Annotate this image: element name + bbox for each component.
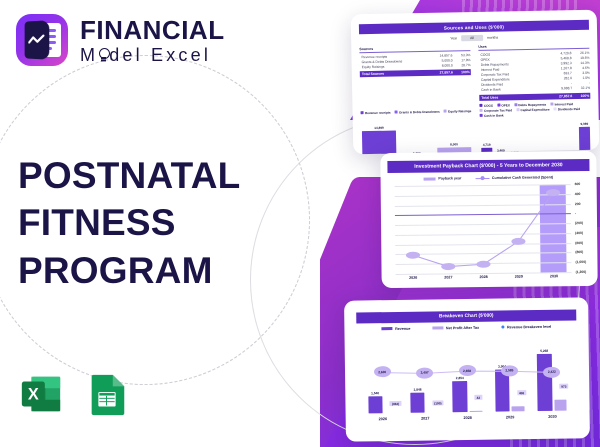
breakeven-level-swatch	[501, 325, 504, 328]
bar-value-label: 9,089	[580, 122, 588, 126]
payback-chart-title: Investment Payback Chart ($'000) - 5 Yea…	[387, 159, 589, 173]
page-title: POSTNATAL FITNESS PROGRAM	[18, 152, 240, 294]
legend-swatch	[395, 111, 398, 114]
row-pct: 53.3%	[452, 53, 470, 57]
cumulative-cash-swatch	[475, 177, 489, 178]
npat-label: 42	[475, 395, 483, 401]
bar-value-label: 4,719	[483, 143, 491, 147]
x-tick-label: 2030	[536, 274, 571, 278]
payback-legend: Payback year Cumulative Cash Generated (…	[381, 175, 597, 181]
payback-year-swatch	[424, 177, 436, 180]
file-format-icons: X	[18, 371, 130, 417]
logo-wave-icon	[28, 34, 45, 46]
x-tick-label: 2028	[446, 415, 488, 420]
y-tick-label: (200)	[575, 221, 583, 225]
row-pct: 1.0%	[572, 76, 590, 80]
y-tick-label: 600	[575, 182, 581, 186]
brand-subtitle: M del Excel	[80, 46, 225, 64]
row-value: 8,000.0	[427, 63, 453, 67]
google-sheets-icon	[84, 371, 130, 417]
sources-chart-legend: Revenue receiptsGrants & Debts Drawdowns…	[360, 104, 471, 120]
sources-total-row: Total Sources 27,857.6 100%	[360, 69, 471, 78]
sources-bar-chart: 14,8995,0008,000	[362, 120, 472, 154]
legend-item: Grants & Debts Drawdowns	[394, 105, 439, 120]
legend-item-cumulative-cash: Cumulative Cash Generated (Spent)	[475, 175, 553, 180]
breakeven-chart-title: Breakeven Chart ($'000)	[356, 309, 576, 323]
sources-uses-title: Sources and Uses ($'000)	[359, 20, 589, 35]
bar-item: 14,899	[362, 121, 397, 154]
legend-swatch	[361, 112, 364, 115]
x-tick-label: 2029	[489, 415, 531, 420]
breakeven-x-axis: 20262027202820292030	[362, 414, 574, 421]
bar-item: 2,992	[509, 119, 521, 154]
brand-title: FINANCIAL	[80, 17, 225, 43]
payback-line-series	[395, 184, 572, 274]
sources-table: Sources Revenue receipts14,857.653.3%Gra…	[359, 45, 471, 103]
payback-y-axis: 600400200-(200)(400)(600)(800)(1,000)(1,…	[571, 184, 598, 272]
row-pct: -	[572, 81, 590, 85]
breakeven-legend: Revenue Net Profit After Tax Revenue Bre…	[344, 324, 588, 331]
year-selector[interactable]: All	[461, 35, 483, 41]
bar-item: 282	[551, 118, 563, 154]
row-value: 282.0	[546, 76, 572, 80]
brand-lockup: FINANCIAL M del Excel	[16, 14, 225, 66]
bar-item: -	[565, 118, 577, 154]
sources-total-pct: 100%	[453, 70, 471, 74]
npat-label: 973	[559, 383, 568, 389]
uses-total-value: 27,857.6	[546, 94, 572, 98]
card-sources-and-uses[interactable]: Sources and Uses ($'000) Year All months…	[351, 10, 600, 155]
legend-item: Equity Raisings	[444, 104, 472, 119]
payback-data-point	[511, 238, 525, 245]
legend-swatch	[516, 109, 519, 112]
x-tick-label: 2027	[404, 416, 446, 421]
payback-line-path	[412, 193, 554, 267]
legend-label: Grants & Debts Drawdowns	[399, 110, 440, 115]
legend-item-payback-year: Payback year	[424, 176, 462, 180]
bar-item: 9,089	[579, 118, 591, 155]
bar-value-label: 8,000	[450, 143, 458, 147]
legend-item-npat: Net Profit After Tax	[432, 325, 479, 330]
lightbulb-icon	[99, 48, 108, 61]
row-value: 9,088.7	[546, 87, 572, 91]
legend-label: Revenue receipts	[365, 111, 391, 115]
legend-label: Debts Repayments	[518, 103, 546, 108]
row-value: 5,000.0	[427, 58, 453, 62]
x-tick-label: 2026	[396, 276, 431, 280]
legend-item: Corporate Tax Paid	[480, 108, 513, 113]
npat-label: (190)	[432, 400, 443, 406]
bar	[362, 130, 397, 154]
legend-swatch	[550, 103, 553, 106]
breakeven-bubble: 2,658	[458, 365, 475, 376]
headline-line-2: FITNESS	[18, 199, 240, 246]
row-pct: 26.1%	[571, 51, 589, 55]
brand-subtitle-post: del Excel	[109, 46, 211, 64]
payback-data-point	[406, 252, 420, 259]
x-tick-label: 2028	[466, 275, 501, 279]
row-label: Equity Raisings	[360, 64, 427, 69]
legend-label-revenue: Revenue	[395, 326, 410, 330]
breakeven-plot-area: 1,5401,8482,8543,9045,268 2,6302,4972,65…	[361, 332, 574, 413]
card-breakeven-chart[interactable]: Breakeven Chart ($'000) Revenue Net Prof…	[344, 297, 590, 441]
poster-canvas: FINANCIAL M del Excel POSTNATAL FITNESS …	[0, 0, 600, 447]
y-tick-label: -	[575, 211, 576, 215]
row-pct: 19.6%	[572, 56, 590, 60]
uses-chart-legend: COGSOPEXDebts RepaymentsInterest PaidCor…	[479, 102, 590, 118]
legend-label: Dividends Paid	[558, 107, 580, 111]
revenue-swatch	[382, 327, 393, 330]
bar-item: 4,719	[481, 120, 493, 155]
legend-item: Cash in Bank	[480, 113, 504, 117]
sources-uses-charts: 14,8995,0008,000 4,7193,4692,9921,268833…	[353, 116, 600, 155]
legend-swatch	[444, 110, 447, 113]
x-tick-label: 2030	[531, 414, 573, 419]
row-pct: 4.6%	[572, 66, 590, 70]
y-tick-label: (400)	[575, 231, 583, 235]
legend-label: OPEX	[501, 103, 510, 107]
x-tick-label: 2026	[362, 416, 404, 421]
legend-label: Equity Raisings	[448, 109, 471, 113]
legend-label-breakeven-level: Revenue Breakeven level	[507, 324, 551, 329]
bar-item: 833	[537, 119, 549, 155]
sources-uses-tables: Sources Revenue receipts14,857.653.3%Gra…	[351, 39, 598, 103]
legend-swatch	[479, 104, 482, 107]
legend-label: Interest Paid	[555, 102, 574, 106]
uses-table: Uses COGS4,720.826.1%OPEX5,468.819.6%Deb…	[478, 43, 590, 101]
legend-swatch	[553, 108, 556, 111]
y-tick-label: (1,000)	[575, 260, 586, 264]
legend-label-cumulative-cash: Cumulative Cash Generated (Spent)	[492, 175, 553, 180]
brand-subtitle-pre: M	[80, 46, 98, 64]
months-label: months	[487, 36, 498, 40]
logo-chart-card-shape	[25, 20, 50, 59]
x-tick-label: 2027	[431, 275, 466, 279]
sources-total-label: Total Sources	[360, 71, 427, 76]
row-pct: 32.1%	[572, 86, 590, 90]
bar-item: 5,000	[399, 121, 434, 155]
y-tick-label: (800)	[575, 250, 583, 254]
year-label: Year	[450, 37, 457, 41]
payback-plot-area: 600400200-(200)(400)(600)(800)(1,000)(1,…	[395, 184, 572, 274]
breakeven-bubble: 2,585	[501, 365, 518, 376]
legend-swatch	[514, 104, 517, 107]
card-investment-payback[interactable]: Investment Payback Chart ($'000) - 5 Yea…	[380, 151, 597, 288]
legend-item-breakeven-level: Revenue Breakeven level	[501, 324, 551, 329]
legend-item: OPEX	[497, 103, 510, 107]
y-tick-label: (1,200)	[576, 270, 587, 274]
row-value: 3,992.3	[546, 61, 572, 65]
y-tick-label: (600)	[575, 241, 583, 245]
row-value: 4,720.8	[545, 51, 571, 55]
svg-text:X: X	[28, 386, 39, 404]
npat-label: (462)	[390, 401, 401, 407]
payback-data-point	[546, 189, 560, 196]
bar-item: 3,469	[495, 119, 507, 154]
row-value: 14,857.6	[426, 53, 452, 57]
npat-label: 408	[517, 390, 526, 396]
payback-x-axis: 20262027202820292030	[396, 274, 572, 280]
legend-item: Debts Repayments	[514, 103, 546, 108]
headline-line-1: POSTNATAL	[18, 152, 240, 199]
legend-label: Capital Expenditure	[520, 107, 549, 112]
x-tick-label: 2029	[501, 275, 536, 279]
bar-item: 1,268	[523, 119, 535, 155]
legend-label-npat: Net Profit After Tax	[446, 325, 479, 329]
legend-label: Corporate Tax Paid	[484, 108, 512, 113]
financial-model-logo-icon	[16, 14, 68, 66]
legend-item: Dividends Paid	[553, 107, 580, 112]
headline-line-3: PROGRAM	[18, 247, 240, 294]
sources-total-value: 27,857.6	[427, 71, 453, 75]
uses-total-label: Total Uses	[479, 94, 546, 99]
row-value: 833.7	[546, 71, 572, 75]
legend-swatch	[480, 114, 483, 117]
row-value: 5,468.8	[546, 56, 572, 60]
legend-label-payback-year: Payback year	[438, 176, 461, 180]
legend-swatch	[497, 104, 500, 107]
payback-data-point	[476, 261, 490, 268]
row-value: 1,267.8	[546, 66, 572, 70]
row-pct: 3.0%	[572, 71, 590, 75]
bar-item: 8,000	[436, 120, 471, 154]
row-pct: 14.3%	[572, 61, 590, 65]
legend-label: COGS	[484, 104, 493, 108]
row-pct: 17.9%	[453, 58, 471, 62]
payback-data-point	[441, 263, 455, 270]
npat-swatch	[432, 326, 443, 329]
y-tick-label: 400	[575, 192, 581, 196]
legend-item: COGS	[479, 104, 493, 108]
row-value: -	[546, 81, 572, 85]
bar-value-label: 14,899	[374, 125, 384, 129]
microsoft-excel-icon: X	[18, 371, 64, 417]
breakeven-bubble: 2,422	[543, 366, 560, 377]
row-pct: 28.7%	[453, 63, 471, 67]
legend-item: Revenue receipts	[360, 106, 390, 121]
legend-item: Interest Paid	[550, 102, 573, 106]
uses-total-pct: 100%	[572, 93, 590, 97]
uses-bar-chart: 4,7193,4692,9921,268833282-9,089	[481, 118, 591, 155]
y-tick-label: 200	[575, 202, 581, 206]
row-label: Cash in Bank	[479, 87, 546, 92]
brand-text: FINANCIAL M del Excel	[80, 17, 225, 64]
legend-swatch	[480, 109, 483, 112]
legend-item: Capital Expenditure	[516, 107, 550, 112]
legend-item-revenue: Revenue	[382, 326, 411, 330]
legend-label: Cash in Bank	[484, 113, 504, 117]
